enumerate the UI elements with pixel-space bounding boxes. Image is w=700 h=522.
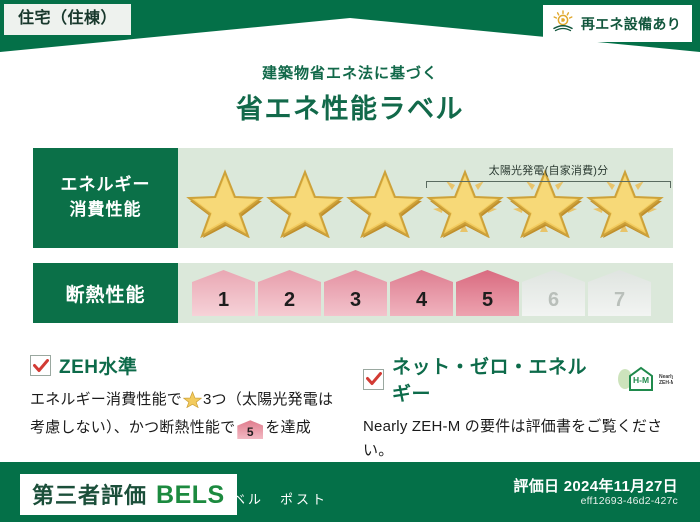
star-rating — [186, 164, 664, 238]
grade-value: 7 — [614, 289, 625, 312]
page-title: 省エネ性能ラベル — [0, 87, 700, 126]
grade-value: 5 — [482, 289, 493, 312]
svg-text:ZEH-M: ZEH-M — [659, 380, 673, 386]
grade-badge: 2 — [258, 270, 321, 316]
net-zero-energy-note: ネット・ゼロ・エネルギー H-M Nearly ZEH-M Nearly ZEH… — [363, 352, 673, 464]
zeh-body-part1: エネルギー消費性能で — [30, 391, 182, 408]
zeh-standard-body: エネルギー消費性能で3つ（太陽光発電は考慮しない）、かつ断熱性能で5を達成 — [30, 388, 342, 441]
footer-bar: 第三者評価 BELS ベル ポスト 評価日 2024年11月27日 eff126… — [0, 462, 700, 522]
insulation-performance-key: 断熱性能 — [33, 263, 178, 323]
insulation-performance-row: 断熱性能 1 2 3 4 5 6 7 — [33, 263, 673, 323]
grade-badge: 5 — [456, 270, 519, 316]
grade-value: 1 — [218, 289, 229, 312]
grade-scale: 1 2 3 4 5 6 7 — [192, 270, 651, 316]
insulation-performance-value: 1 2 3 4 5 6 7 — [178, 263, 673, 323]
title-subtitle: 建築物省エネ法に基づく — [0, 62, 700, 83]
star-icon — [183, 395, 202, 412]
star-filled — [186, 164, 264, 238]
grade-badge: 3 — [324, 270, 387, 316]
bels-ruby-label: ベル ポスト — [232, 489, 328, 508]
bels-badge: 第三者評価 BELS — [20, 474, 237, 515]
grade-value: 2 — [284, 289, 295, 312]
bels-en-label: BELS — [156, 481, 225, 510]
grade-badge: 7 — [588, 270, 651, 316]
star-filled-solar — [586, 164, 664, 238]
renewable-equipment-badge: 再エネ設備あり — [543, 5, 692, 42]
energy-key-line2: 消費性能 — [70, 198, 142, 223]
zeh-standard-header: ZEH水準 — [30, 352, 342, 379]
checkbox-checked-icon — [30, 355, 51, 376]
net-zero-energy-header: ネット・ゼロ・エネルギー H-M Nearly ZEH-M — [363, 352, 673, 406]
energy-performance-value: 太陽光発電(自家消費)分 — [178, 148, 673, 248]
grade-value: 6 — [548, 289, 559, 312]
zeh-standard-title: ZEH水準 — [59, 352, 138, 379]
evaluation-id: eff12693-46d2-427c — [581, 495, 678, 507]
energy-performance-key: エネルギー 消費性能 — [33, 148, 178, 248]
star-filled — [346, 164, 424, 238]
star-filled-solar — [426, 164, 504, 238]
energy-performance-row: エネルギー 消費性能 — [33, 148, 673, 248]
net-zero-energy-title: ネット・ゼロ・エネルギー — [392, 352, 603, 406]
insulation-key-label: 断熱性能 — [65, 280, 145, 307]
grade-badge: 1 — [192, 270, 255, 316]
building-type-badge: 住宅（住棟） — [4, 4, 131, 35]
bels-jp-label: 第三者評価 — [32, 478, 147, 510]
grade-value: 3 — [350, 289, 361, 312]
energy-performance-label: 住宅（住棟） 再エネ設備あり 建築物省エネ法に基づく 省エネ性能ラベル — [0, 0, 700, 522]
svg-text:H-M: H-M — [633, 375, 649, 385]
building-type-label: 住宅（住棟） — [18, 10, 117, 27]
zeh-standard-note: ZEH水準 エネルギー消費性能で3つ（太陽光発電は考慮しない）、かつ断熱性能で5… — [30, 352, 342, 441]
grade-badge: 6 — [522, 270, 585, 316]
grade-badge: 4 — [390, 270, 453, 316]
grade-badge-inline: 5 — [237, 420, 263, 439]
zeh-body-star-count: 3つ（太陽光発電 — [203, 391, 318, 408]
zeh-body-part3: を達成 — [265, 419, 311, 436]
title-block: 建築物省エネ法に基づく 省エネ性能ラベル — [0, 62, 700, 126]
star-filled-solar — [506, 164, 584, 238]
energy-key-line1: エネルギー — [61, 173, 151, 198]
star-filled — [266, 164, 344, 238]
evaluation-date: 評価日 2024年11月27日 — [513, 475, 678, 496]
checkbox-checked-icon — [363, 369, 384, 390]
renewable-label: 再エネ設備あり — [581, 14, 681, 34]
grade-value: 4 — [416, 289, 427, 312]
sun-icon — [551, 10, 575, 37]
net-zero-energy-body: Nearly ZEH-M の要件は評価書をご覧ください。 — [363, 415, 673, 464]
zeh-m-logo: H-M Nearly ZEH-M — [617, 366, 673, 392]
